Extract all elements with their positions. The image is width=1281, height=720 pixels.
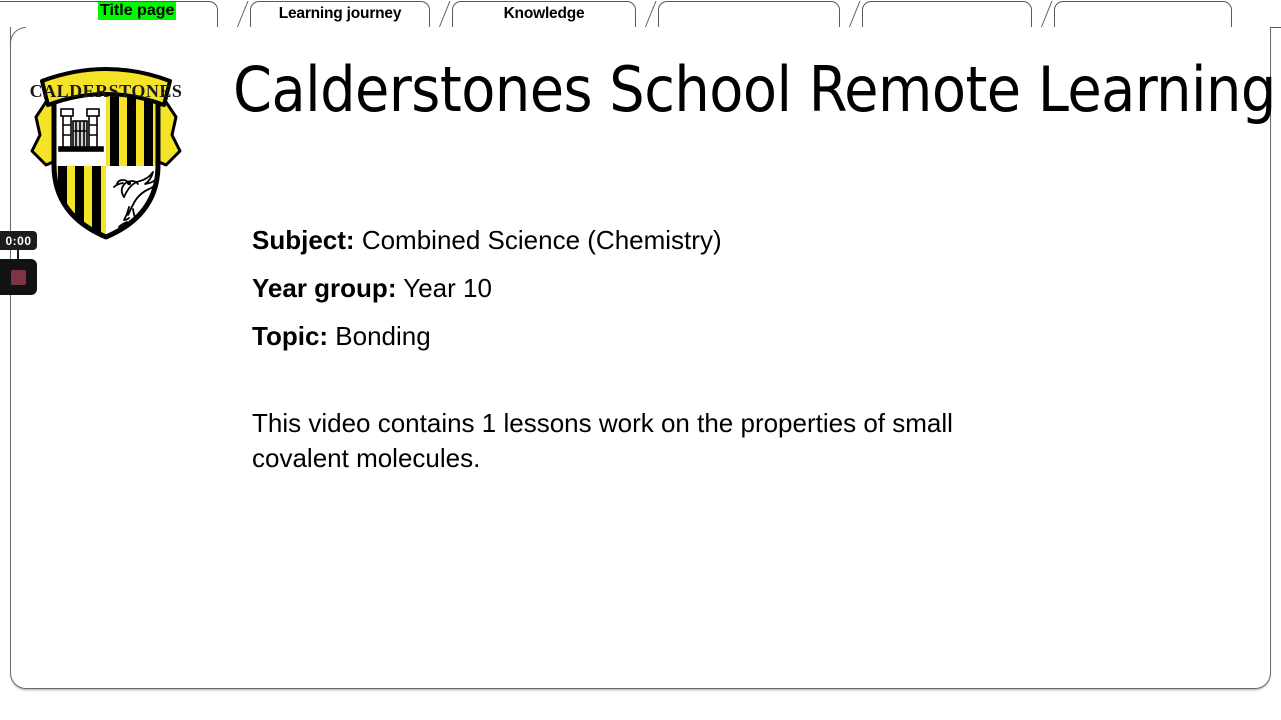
tab-edge-left-learning-journey xyxy=(236,1,250,28)
tab-knowledge-label: Knowledge xyxy=(453,5,635,23)
crest-banner-text: CALDERSTONES xyxy=(30,81,182,101)
meta-label-year-group: Year group: xyxy=(252,273,396,303)
tab-blank-1[interactable] xyxy=(658,1,840,28)
meta-row-topic: Topic: Bonding xyxy=(252,312,1202,360)
tab-edge-left-blank-2 xyxy=(848,1,862,28)
meta-row-year-group: Year group: Year 10 xyxy=(252,264,1202,312)
tab-edge-left-knowledge xyxy=(438,1,452,28)
lesson-meta-block: Subject: Combined Science (Chemistry) Ye… xyxy=(252,216,1202,360)
tab-learning-journey[interactable]: Learning journey xyxy=(250,1,430,28)
meta-label-subject: Subject: xyxy=(252,225,355,255)
tab-knowledge[interactable]: Knowledge xyxy=(452,1,636,28)
stop-square-icon xyxy=(11,270,26,285)
stop-recording-button[interactable] xyxy=(0,259,37,295)
tab-learning-journey-label: Learning journey xyxy=(251,5,429,23)
meta-value-subject: Combined Science (Chemistry) xyxy=(362,225,722,255)
tab-blank-2[interactable] xyxy=(862,1,1032,28)
tab-edge-left-blank-1 xyxy=(644,1,658,28)
tab-bar: Learning journey Knowledge Title page xyxy=(0,0,1281,28)
calderstones-crest-logo: CALDERSTONES xyxy=(30,47,182,247)
tab-edge-left-blank-3 xyxy=(1040,1,1054,28)
meta-row-subject: Subject: Combined Science (Chemistry) xyxy=(252,216,1202,264)
page-title: Calderstones School Remote Learning xyxy=(233,57,1263,124)
meta-value-year-group: Year 10 xyxy=(403,273,492,303)
meta-value-topic: Bonding xyxy=(335,321,430,351)
tab-edge-right-blank-3 xyxy=(1232,1,1246,28)
meta-label-topic: Topic: xyxy=(252,321,328,351)
lesson-description: This video contains 1 lessons work on th… xyxy=(252,406,1052,476)
recording-timer: 0:00 xyxy=(0,231,37,250)
tab-blank-3[interactable] xyxy=(1054,1,1232,28)
tab-title-page-label: Title page xyxy=(98,2,176,20)
